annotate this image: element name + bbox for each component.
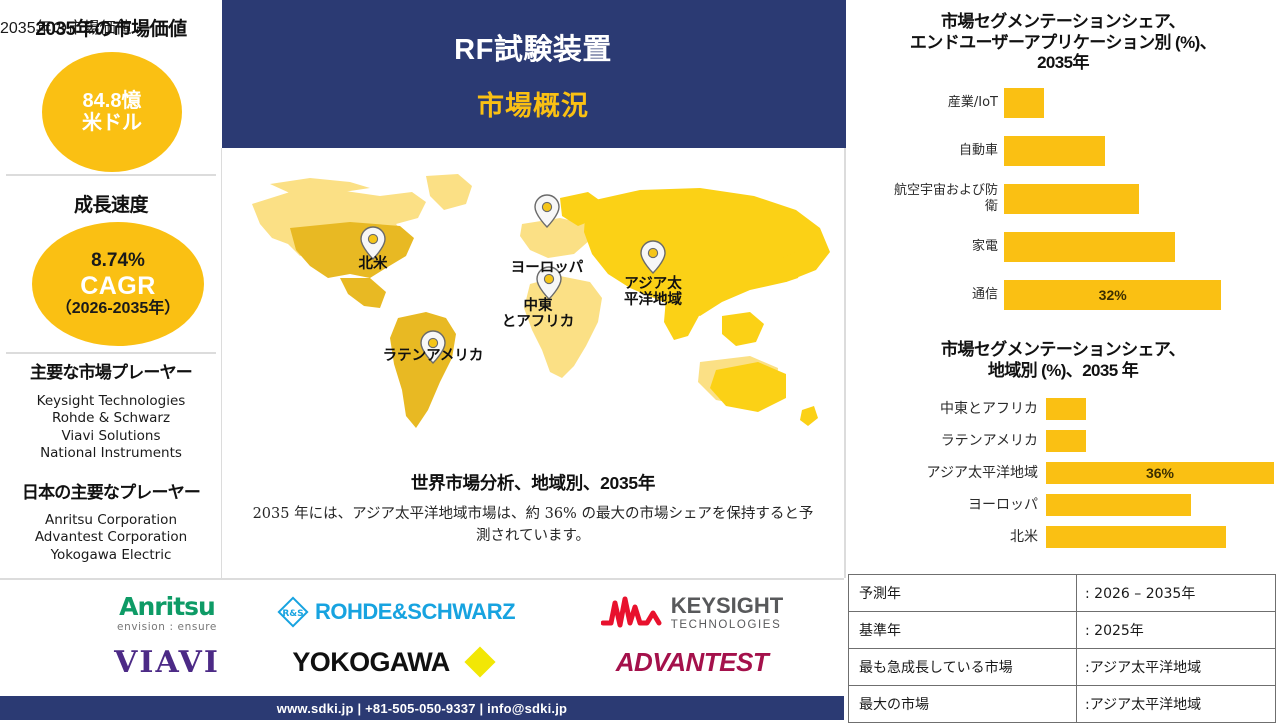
charts-panel: 市場セグメンテーションシェア、 エンドユーザーアプリケーション別 (%)、 20… — [846, 0, 1280, 570]
bar-value — [1004, 136, 1105, 166]
growth-cagr: CAGR — [80, 272, 156, 300]
chart2-bar-row: 中東とアフリカ — [852, 398, 1274, 420]
bar-fill — [1004, 184, 1139, 214]
bar-label: 産業/IoT — [852, 95, 998, 111]
map-description: 2035 年には、アジア太平洋地域市場は、約 36% の最大の市場シェアを保持す… — [246, 504, 820, 548]
map-pin-icon — [640, 240, 666, 274]
bar-value — [1004, 232, 1175, 262]
bar-value: 32% — [1004, 280, 1221, 310]
table-row: 基準年 : 2025年 — [848, 612, 1276, 649]
chart2-title: 市場セグメンテーションシェア、 地域別 (%)、2035 年 — [852, 340, 1274, 381]
bar-label: 中東とアフリカ — [852, 401, 1038, 418]
footer-contact-text[interactable]: www.sdki.jp | +81-505-050-9337 | info@sd… — [277, 701, 567, 716]
chart1-bar-row: 航空宇宙および防 衛 — [852, 184, 1274, 214]
growth-rate: 8.74% — [91, 250, 145, 271]
footer-bar: www.sdki.jp | +81-505-050-9337 | info@sd… — [0, 696, 844, 720]
bar-label: アジア太平洋地域 — [852, 465, 1038, 482]
list-item: Yokogawa Electric — [0, 547, 222, 564]
table-cell-value: :アジア太平洋地域 — [1077, 649, 1275, 685]
infographic-root: 2035年の市場価値 84.8憶 米ドル 8.74% CAGR （2026-20… — [0, 0, 1280, 720]
bar-label: 家電 — [852, 239, 998, 255]
bar-value — [1046, 526, 1226, 548]
list-item: National Instruments — [0, 445, 222, 462]
logo-viavi-text: VIAVI — [114, 645, 220, 680]
logo-keysight-text: KEYSIGHT — [671, 593, 783, 619]
bar-label: 航空宇宙および防 衛 — [852, 183, 998, 216]
bar-label: ヨーロッパ — [852, 497, 1038, 514]
divider — [6, 352, 216, 354]
bar-fill — [1004, 136, 1105, 166]
table-cell-label: 基準年 — [849, 612, 1077, 648]
table-cell-value: :アジア太平洋地域 — [1077, 686, 1275, 722]
map-pin-icon — [534, 194, 560, 228]
chart1-title: 市場セグメンテーションシェア、 エンドユーザーアプリケーション別 (%)、 20… — [852, 12, 1274, 74]
map-label-north-america: 北米 — [333, 256, 413, 272]
list-item: Rohde & Schwarz — [0, 410, 222, 427]
logo-yokogawa: YOKOGAWA — [262, 640, 530, 684]
keysight-wave-icon — [601, 593, 663, 631]
bar-value — [1004, 88, 1044, 118]
table-row: 最も急成長している市場 :アジア太平洋地域 — [848, 649, 1276, 686]
japan-players-list: Anritsu Corporation Advantest Corporatio… — [0, 512, 222, 564]
bar-value — [1004, 184, 1139, 214]
key-players-list: Keysight Technologies Rohde & Schwarz Vi… — [0, 393, 222, 462]
bar-value — [1046, 398, 1086, 420]
chart2-bar-row: アジア太平洋地域 36% — [852, 462, 1274, 484]
bar-value — [1046, 494, 1191, 516]
growth-period: （2026-2035年） — [56, 300, 181, 318]
map-pin-icon — [360, 226, 386, 260]
bar-fill: 32% — [1004, 280, 1221, 310]
divider — [0, 578, 844, 580]
logo-yokogawa-text: YOKOGAWA — [292, 647, 449, 678]
bar-fill — [1004, 88, 1044, 118]
market-value-bubble: 84.8憶 米ドル — [42, 52, 182, 172]
chart2-bar-row: 北米 — [852, 526, 1274, 548]
svg-text:R&S: R&S — [282, 609, 303, 619]
chart1-bar-row: 通信 32% — [852, 280, 1274, 310]
divider — [6, 174, 216, 176]
map-label-europe: ヨーロッパ — [457, 260, 637, 276]
chart1-bar-row: 産業/IoT — [852, 88, 1274, 118]
logo-keysight: KEYSIGHT TECHNOLOGIES — [560, 588, 824, 636]
chart1-bar-row: 自動車 — [852, 136, 1274, 166]
bar-fill — [1004, 232, 1175, 262]
chart2-bar-row: ラテンアメリカ — [852, 430, 1274, 452]
map-label-asia-pacific: アジア太 平洋地域 — [573, 276, 733, 308]
bar-label: 北米 — [852, 529, 1038, 546]
table-cell-label: 最も急成長している市場 — [849, 649, 1077, 685]
table-cell-label: 最大の市場 — [849, 686, 1077, 722]
logo-keysight-tagline: TECHNOLOGIES — [671, 619, 782, 631]
table-cell-value: : 2025年 — [1077, 612, 1275, 648]
map-label-latin-america: ラテンアメリカ — [308, 348, 558, 364]
table-cell-value: : 2026 – 2035年 — [1077, 575, 1275, 611]
bar-fill — [1046, 430, 1086, 452]
logo-rohde-schwarz: R&S ROHDE&SCHWARZ — [262, 588, 530, 636]
page-title: RF試験装置 — [222, 26, 844, 68]
growth-bubble: 8.74% CAGR （2026-2035年） — [32, 222, 204, 346]
logo-strip: Anritsu envision : ensure R&S ROHDE&SCHW… — [0, 578, 844, 696]
logo-advantest: ADVANTEST — [560, 640, 824, 684]
table-row: 最大の市場 :アジア太平洋地域 — [848, 686, 1276, 723]
table-row: 予測年 : 2026 – 2035年 — [848, 574, 1276, 612]
bar-fill — [1046, 526, 1226, 548]
logo-rohde-schwarz-text: ROHDE&SCHWARZ — [315, 599, 515, 625]
page-subtitle: 市場概況 — [222, 84, 844, 123]
market-value-heading: 2035年の市場価値 — [0, 14, 222, 41]
logo-anritsu-tagline: envision : ensure — [117, 621, 217, 633]
list-item: Advantest Corporation — [0, 529, 222, 546]
info-table: 予測年 : 2026 – 2035年 基準年 : 2025年 最も急成長している… — [848, 574, 1276, 718]
japan-players-title: 日本の主要なプレーヤー — [0, 478, 222, 503]
yokogawa-diamond-icon — [460, 642, 500, 682]
chart2-plot: 中東とアフリカ ラテンアメリカ アジア太平洋地域 — [852, 398, 1274, 568]
chart2-bar-row: ヨーロッパ — [852, 494, 1274, 516]
chart1-bar-row: 家電 — [852, 232, 1274, 262]
list-item: Viavi Solutions — [0, 428, 222, 445]
logo-anritsu: Anritsu envision : ensure — [52, 588, 282, 636]
sidebar: 2035年の市場価値 84.8憶 米ドル 8.74% CAGR （2026-20… — [0, 0, 222, 578]
bar-label: 通信 — [852, 287, 998, 303]
bar-fill — [1046, 494, 1191, 516]
bar-label: ラテンアメリカ — [852, 433, 1038, 450]
growth-heading: 成長速度 — [0, 190, 222, 217]
map-caption: 世界市場分析、地域別、2035年 — [222, 470, 844, 495]
market-value-line1: 84.8憶 — [83, 90, 142, 112]
key-players-title: 主要な市場プレーヤー — [0, 358, 222, 383]
list-item: Keysight Technologies — [0, 393, 222, 410]
market-value-line2: 米ドル — [82, 112, 142, 134]
bar-value — [1046, 430, 1086, 452]
bar-fill — [1046, 398, 1086, 420]
bar-fill: 36% — [1046, 462, 1274, 484]
map-panel: 北米 ヨーロッパ 中東 とアフリカ アジア太 平洋地域 ラテンアメリカ 世界市場… — [222, 148, 844, 578]
rohde-schwarz-diamond-icon: R&S — [277, 596, 309, 628]
bar-label: 自動車 — [852, 143, 998, 159]
logo-advantest-text: ADVANTEST — [616, 647, 768, 678]
chart1-plot: 産業/IoT 自動車 航空宇宙および防 衛 — [852, 88, 1274, 338]
list-item: Anritsu Corporation — [0, 512, 222, 529]
logo-anritsu-text: Anritsu — [119, 592, 215, 621]
logo-viavi: VIAVI — [52, 640, 282, 684]
table-cell-label: 予測年 — [849, 575, 1077, 611]
header-banner: RF試験装置 市場概況 — [222, 0, 844, 148]
bar-value: 36% — [1046, 462, 1274, 484]
